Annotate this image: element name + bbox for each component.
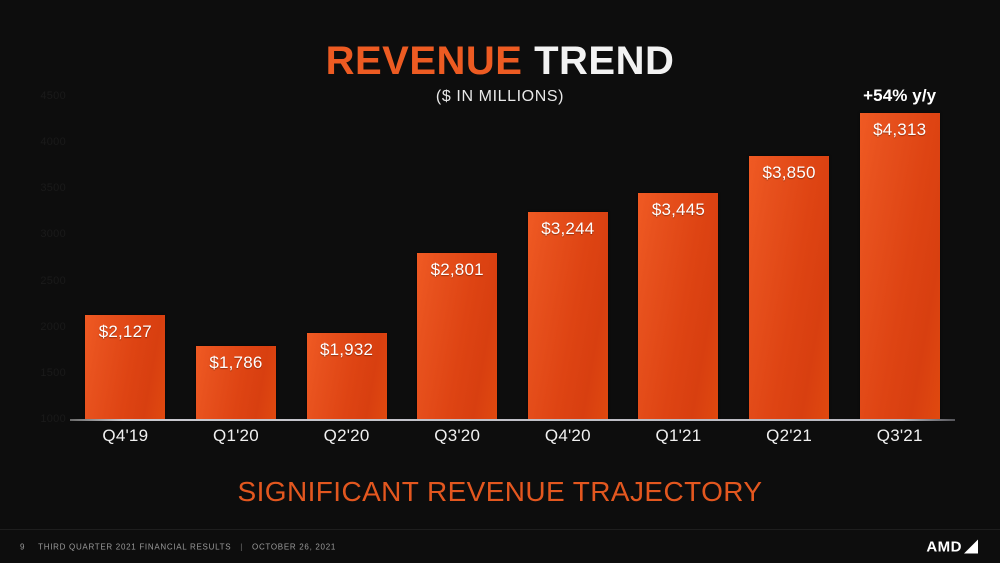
y-axis-tick-label: 1500: [40, 367, 66, 379]
slide-canvas: REVENUE TREND ($ IN MILLIONS) 4500400035…: [0, 0, 1000, 563]
growth-annotation: +54% y/y: [844, 86, 955, 106]
x-axis-tick-label: Q3'21: [844, 426, 955, 446]
chart-bar[interactable]: $2,127: [85, 315, 165, 419]
bar-value-label: $1,786: [196, 353, 276, 373]
bar-slot: $3,244: [528, 96, 608, 419]
chart-bar[interactable]: $4,313: [860, 113, 940, 419]
page-number: 9: [20, 542, 25, 551]
bar-slot: $2,801: [417, 96, 497, 419]
x-axis-line: [70, 419, 955, 421]
bar-value-label: $4,313: [860, 120, 940, 140]
bar-value-label: $2,801: [417, 260, 497, 280]
bar-chart-plot-area: $2,127$1,786$1,932$2,801$3,244$3,445$3,8…: [70, 96, 955, 419]
bar-slot: $4,313: [860, 96, 940, 419]
y-axis-tick-label: 1000: [40, 413, 66, 425]
amd-arrow-icon: [964, 540, 978, 554]
bar-value-label: $2,127: [85, 322, 165, 342]
title-plain-word: TREND: [523, 39, 675, 83]
y-axis-tick-label: 2500: [40, 275, 66, 287]
bar-value-label: $3,244: [528, 219, 608, 239]
chart-bar[interactable]: $1,786: [196, 346, 276, 419]
y-axis-tick-label: 3500: [40, 182, 66, 194]
y-axis-tick-label: 2000: [40, 321, 66, 333]
footer-bar: 9 THIRD QUARTER 2021 FINANCIAL RESULTS |…: [0, 529, 1000, 563]
chart-bar[interactable]: $3,850: [749, 156, 829, 419]
footer-separator: |: [240, 542, 243, 551]
bar-slot: $1,786: [196, 96, 276, 419]
x-axis-tick-label: Q3'20: [402, 426, 513, 446]
chart-bar[interactable]: $3,244: [528, 212, 608, 419]
page-title: REVENUE TREND: [0, 40, 1000, 82]
y-axis-tick-label: 4000: [40, 136, 66, 148]
x-axis-tick-label: Q4'19: [70, 426, 181, 446]
y-axis: 45004000350030002500200015001000: [22, 96, 66, 419]
bar-slot: $3,445: [638, 96, 718, 419]
amd-wordmark: AMD: [926, 539, 962, 554]
chart-bar[interactable]: $1,932: [307, 333, 387, 419]
bar-value-label: $1,932: [307, 340, 387, 360]
footer-date: OCTOBER 26, 2021: [252, 542, 336, 551]
footer-meta: 9 THIRD QUARTER 2021 FINANCIAL RESULTS |…: [20, 542, 336, 551]
bar-slot: $3,850: [749, 96, 829, 419]
bar-value-label: $3,445: [638, 200, 718, 220]
chart-bar[interactable]: $2,801: [417, 253, 497, 419]
x-axis-tick-label: Q2'21: [734, 426, 845, 446]
footer-deck-title: THIRD QUARTER 2021 FINANCIAL RESULTS: [38, 542, 231, 551]
tagline: SIGNIFICANT REVENUE TRAJECTORY: [0, 476, 1000, 508]
title-accent-word: REVENUE: [326, 39, 523, 83]
x-axis-tick-label: Q2'20: [291, 426, 402, 446]
amd-logo: AMD: [926, 539, 978, 554]
x-axis-tick-label: Q1'21: [623, 426, 734, 446]
chart-bar[interactable]: $3,445: [638, 193, 718, 419]
x-axis-tick-label: Q4'20: [513, 426, 624, 446]
y-axis-tick-label: 3000: [40, 228, 66, 240]
bar-value-label: $3,850: [749, 163, 829, 183]
bar-slot: $1,932: [307, 96, 387, 419]
bar-slot: $2,127: [85, 96, 165, 419]
x-axis-tick-label: Q1'20: [181, 426, 292, 446]
y-axis-tick-label: 4500: [40, 90, 66, 102]
